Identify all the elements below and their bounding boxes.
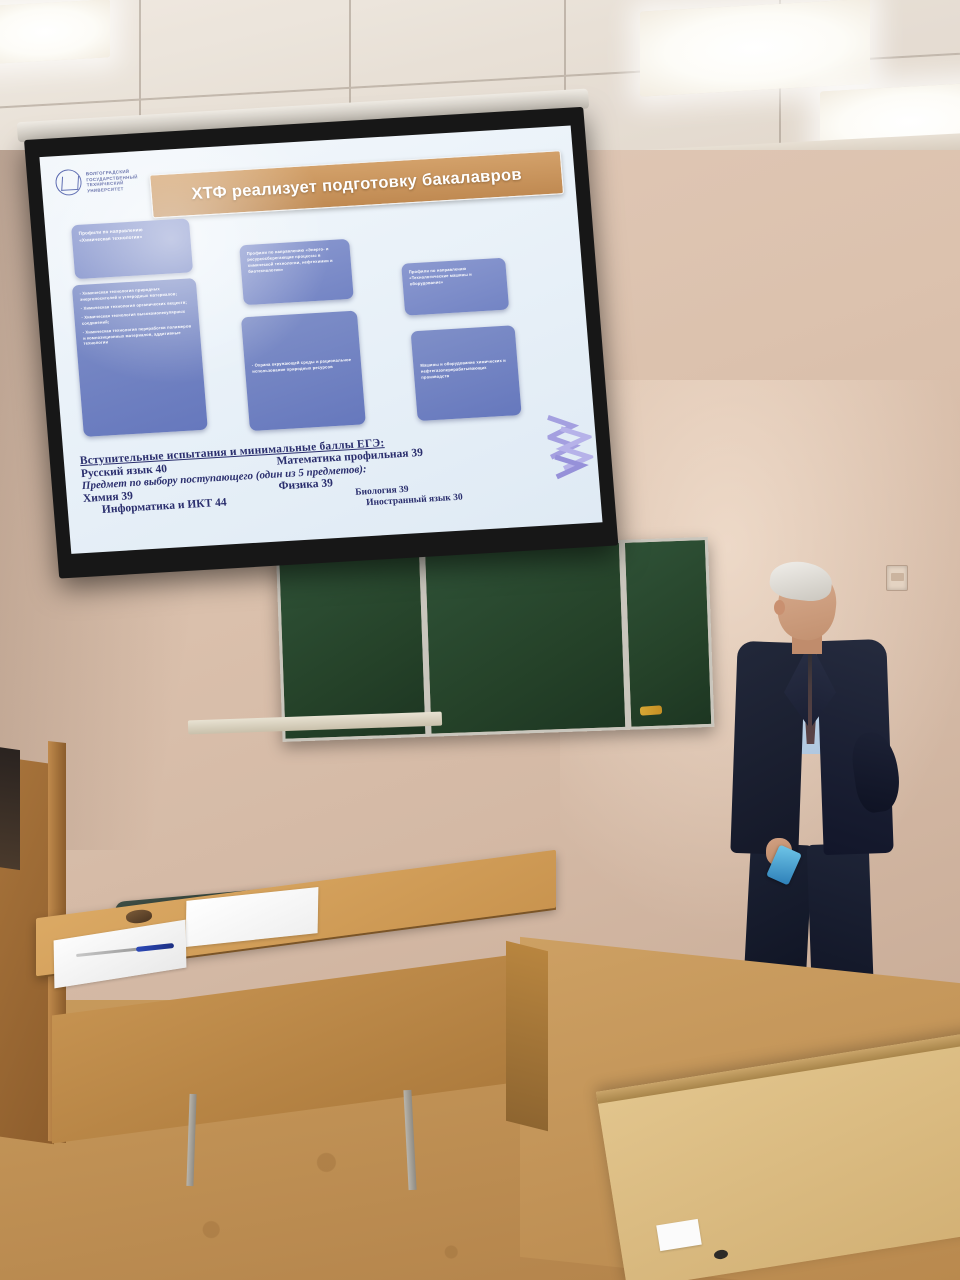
presenter-ear bbox=[774, 600, 785, 615]
profile-box-machines-list: Машины и оборудование химических и нефте… bbox=[411, 325, 522, 421]
box-c-text: Профили по направлению «Энерго- и ресурс… bbox=[247, 245, 345, 274]
lecture-room-photo: Волгоградский государственный технически… bbox=[0, 0, 960, 1280]
left-cabinet-shadow bbox=[0, 746, 20, 870]
vstu-emblem-icon bbox=[55, 169, 83, 196]
profile-box-energy-saving-heading: Профили по направлению «Энерго- и ресурс… bbox=[239, 239, 354, 305]
university-logo-text: Волгоградский государственный технически… bbox=[85, 165, 138, 193]
profile-box-machines-heading: Профили по направлению «Технологические … bbox=[401, 258, 509, 316]
box-d-text: - Охрана окружающей среды и рациональное… bbox=[248, 317, 354, 375]
desk-side-panel bbox=[506, 941, 548, 1131]
exam-requirements-block: Вступительные испытания и минимальные ба… bbox=[79, 425, 594, 525]
box-f-text: Машины и оборудование химических и нефте… bbox=[418, 332, 511, 381]
ceiling-light-left bbox=[0, 0, 110, 65]
projection-screen: Волгоградский государственный технически… bbox=[24, 107, 618, 579]
slide-title: ХТФ реализует подготовку бакалавров bbox=[191, 165, 523, 204]
box-b-text: - Химическая технология природных энерго… bbox=[79, 284, 193, 347]
profile-box-chemical-technology-heading: Профили по направлению «Химическая техно… bbox=[71, 218, 193, 279]
university-logo: Волгоградский государственный технически… bbox=[55, 165, 139, 196]
chalk-piece-icon bbox=[640, 705, 663, 716]
box-e-text: Профили по направлению «Технологические … bbox=[409, 264, 500, 287]
presentation-slide: Волгоградский государственный технически… bbox=[39, 126, 602, 554]
profile-box-chemical-technology-list: - Химическая технология природных энерго… bbox=[72, 278, 208, 437]
profile-box-environment-list: - Охрана окружающей среды и рациональное… bbox=[241, 311, 366, 432]
zigzag-decoration-icon bbox=[546, 411, 596, 485]
blackboard-panel-center bbox=[422, 540, 629, 737]
slide-title-banner: ХТФ реализует подготовку бакалавров bbox=[149, 150, 564, 218]
blackboard-panel-right bbox=[622, 537, 715, 730]
ceiling-light-right bbox=[640, 0, 870, 97]
box-a-text: Профили по направлению «Химическая техно… bbox=[78, 225, 183, 244]
